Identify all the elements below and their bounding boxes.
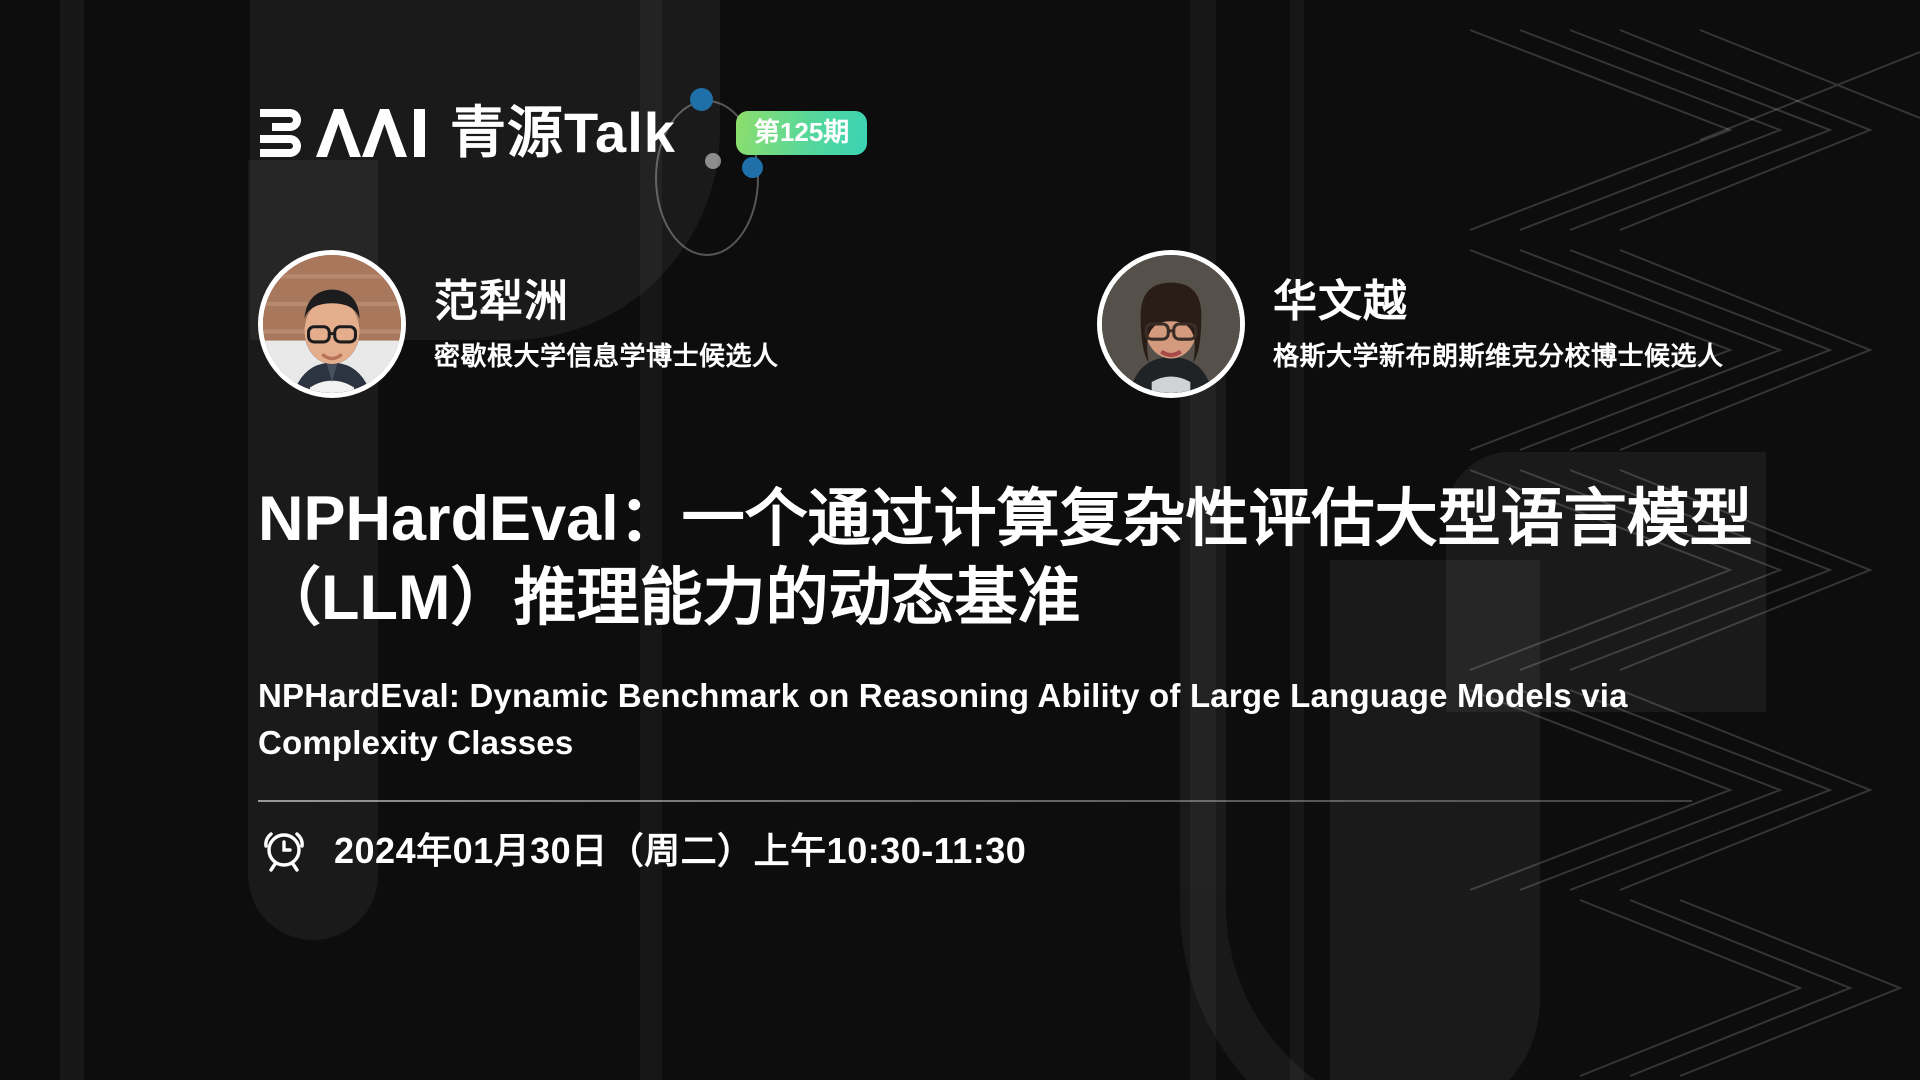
brand-logo-text: 青源Talk: [450, 105, 676, 161]
alarm-clock-icon: [258, 822, 310, 874]
speaker-affiliation: 格斯大学新布朗斯维克分校博士候选人: [1273, 342, 1724, 371]
speaker-name: 范犁洲: [434, 278, 779, 326]
speaker-avatar-2: [1097, 250, 1245, 398]
avatar-photo-icon: [1102, 255, 1240, 393]
speaker-avatar-1: [258, 250, 406, 398]
talk-title-zh: NPHardEval：一个通过计算复杂性评估大型语言模型（LLM）推理能力的动态…: [258, 480, 1778, 639]
speaker-affiliation: 密歇根大学信息学博士候选人: [434, 342, 779, 371]
speaker-info: 范犁洲 密歇根大学信息学博士候选人: [434, 278, 779, 371]
avatar-photo-icon: [263, 255, 401, 393]
baai-logo-icon: [258, 107, 428, 159]
webinar-poster: 青源Talk 第125期: [0, 0, 1920, 1080]
speaker-card: 范犁洲 密歇根大学信息学博士候选人: [258, 250, 779, 398]
section-divider: [258, 800, 1692, 802]
schedule-datetime: 2024年01月30日（周二）上午10:30-11:30: [334, 822, 1026, 874]
speaker-card: 华文越 格斯大学新布朗斯维克分校博士候选人: [1097, 250, 1724, 398]
episode-badge: 第125期: [736, 111, 867, 155]
speaker-info: 华文越 格斯大学新布朗斯维克分校博士候选人: [1273, 278, 1724, 371]
brand-logo-row: 青源Talk 第125期: [258, 98, 867, 168]
schedule-row: 2024年01月30日（周二）上午10:30-11:30: [258, 822, 1026, 874]
talk-title-en: NPHardEval: Dynamic Benchmark on Reasoni…: [258, 673, 1758, 767]
speaker-name: 华文越: [1273, 278, 1724, 326]
bg-strip-1: [60, 0, 84, 1080]
